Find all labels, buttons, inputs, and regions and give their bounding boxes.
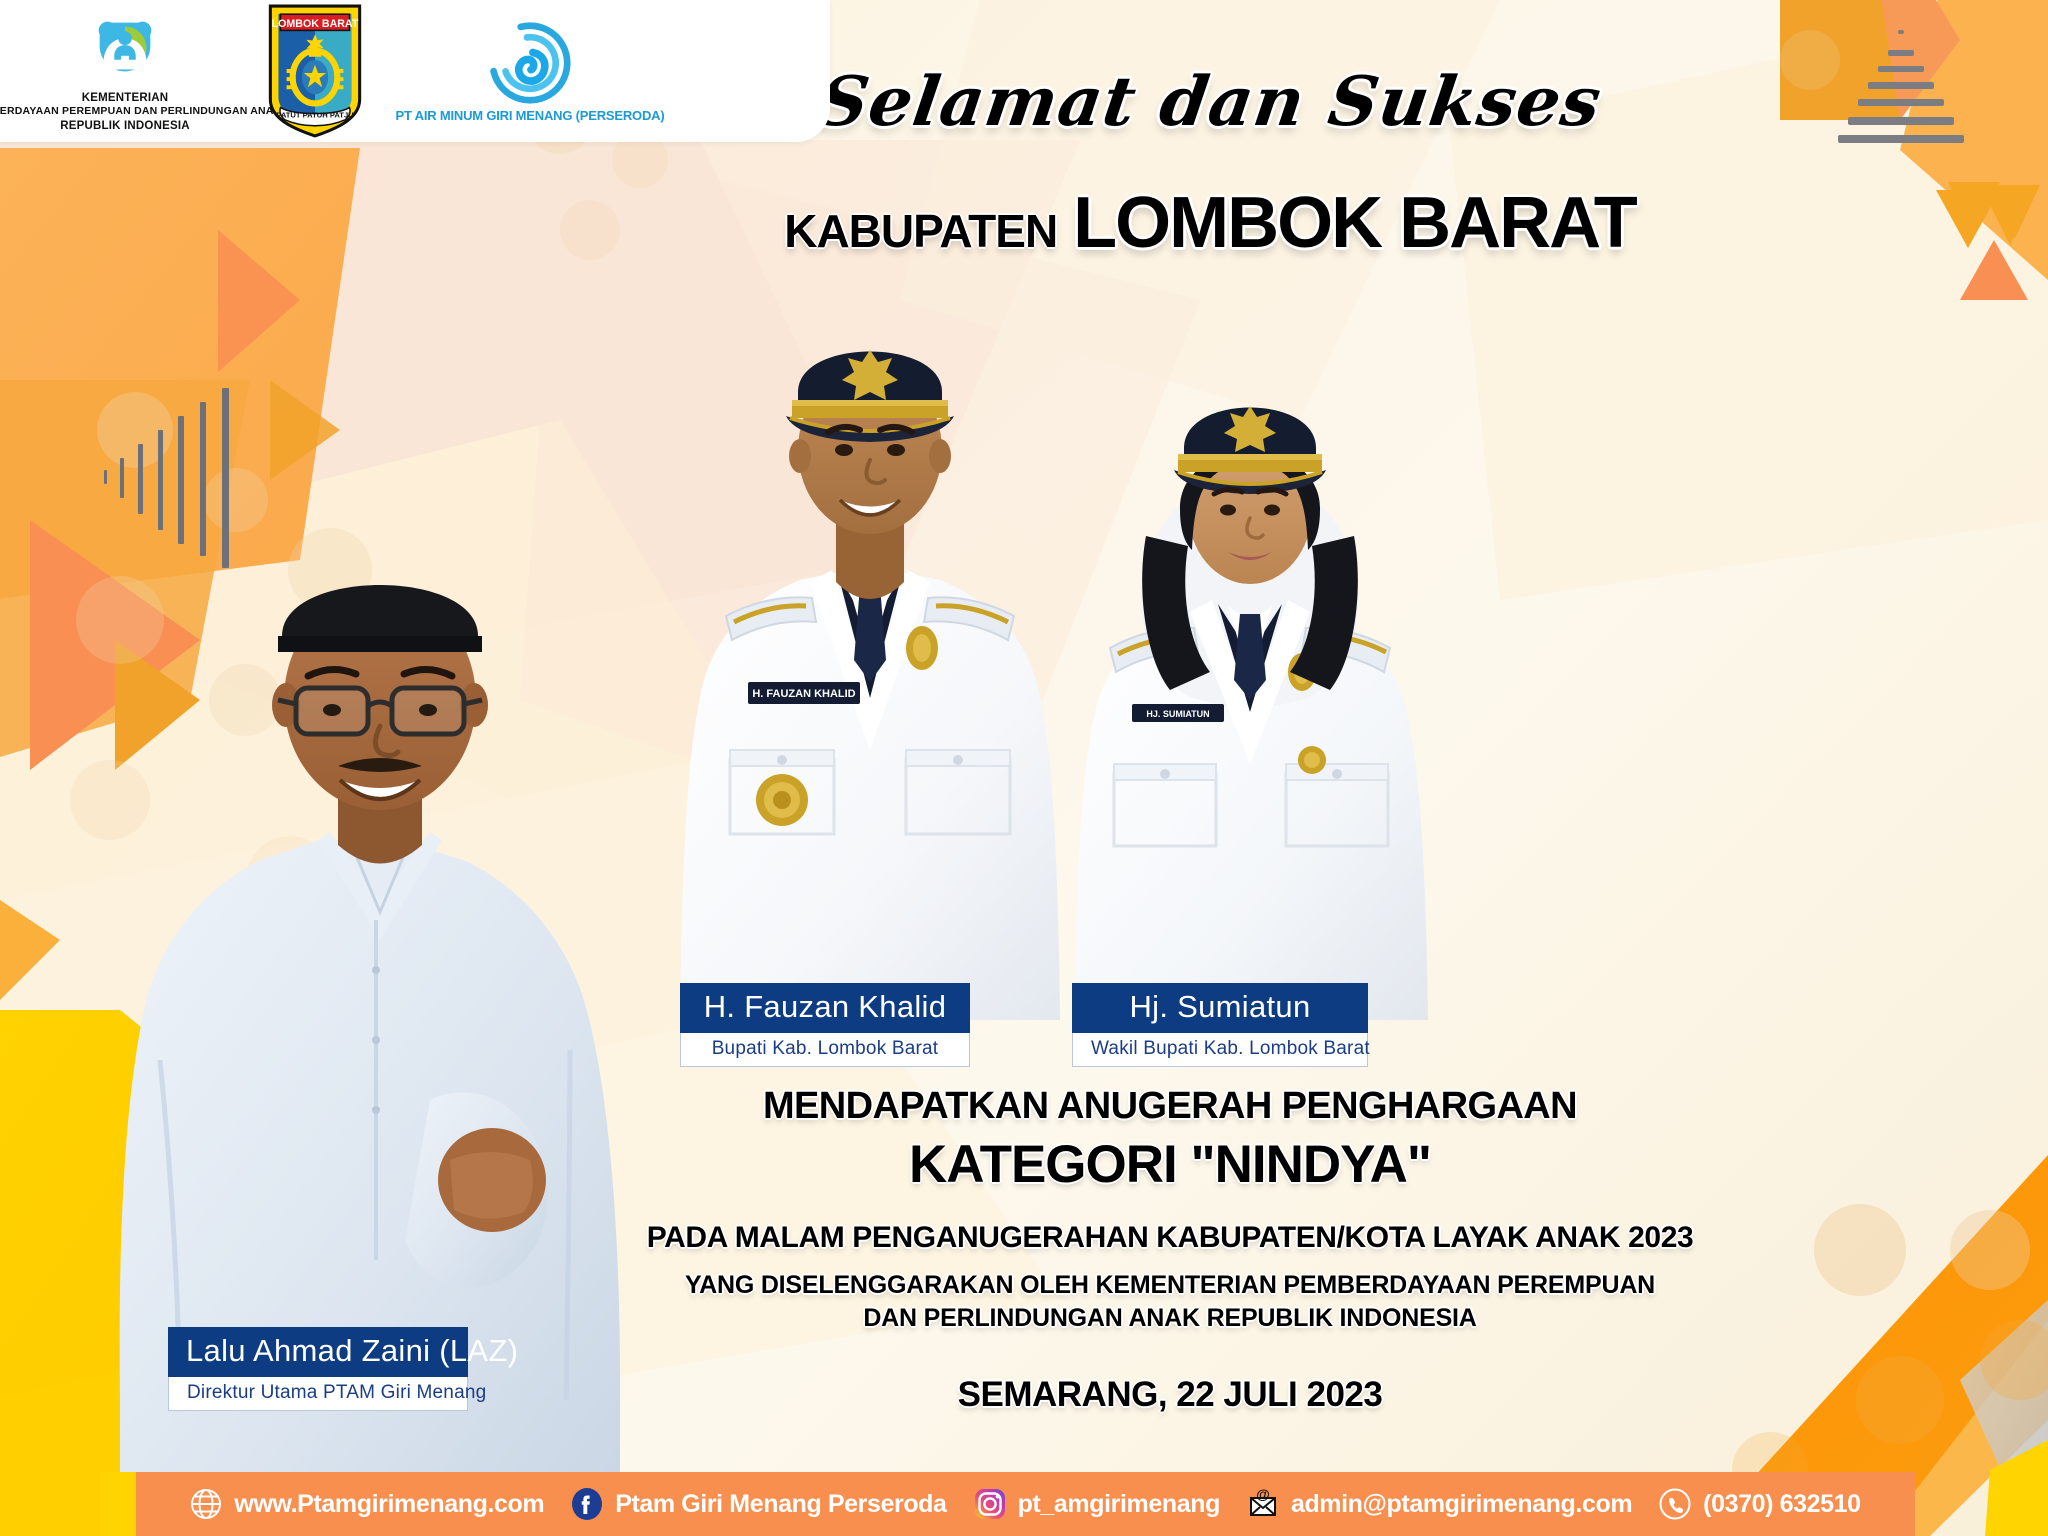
- lombok-barat-crest: LOMBOK BARAT PATUT PATUH PATJU: [250, 2, 380, 140]
- crest-banner-text: LOMBOK BARAT: [272, 18, 359, 30]
- footer-facebook-text: Ptam Giri Menang Perseroda: [615, 1490, 946, 1519]
- ptam-water-swirl-icon: [487, 20, 573, 106]
- nameplate-name: Hj. Sumiatun: [1072, 983, 1368, 1033]
- logo-header-card: KEMENTERIAN PEMBERDAYAAN PEREMPUAN DAN P…: [0, 0, 830, 142]
- instagram-icon: [973, 1487, 1007, 1521]
- pyramid-lines-motif: [1838, 28, 1968, 148]
- headline-script: Selamat dan Sukses: [794, 62, 1625, 142]
- footer-yellow-accent: [100, 1472, 136, 1536]
- award-line-3: PADA MALAM PENGANUGERAHAN KABUPATEN/KOTA…: [640, 1221, 1700, 1255]
- ptam-logo: PT AIR MINUM GIRI MENANG (PERSERODA): [380, 20, 680, 123]
- kpppa-emblem-icon: [86, 9, 164, 87]
- su-figure: HJ. SUMIATUN: [1050, 360, 1450, 1020]
- kpppa-caption-line1: KEMENTERIAN: [0, 91, 281, 106]
- nameplate-role: Direktur Utama PTAM Giri Menang: [168, 1377, 468, 1411]
- poster-canvas: KEMENTERIAN PEMBERDAYAAN PEREMPUAN DAN P…: [0, 0, 2048, 1536]
- headline-main: KABUPATENLOMBOK BARAT: [740, 182, 1680, 264]
- kpppa-caption-line3: REPUBLIK INDONESIA: [0, 119, 281, 134]
- footer-email-text: admin@ptamgirimenang.com: [1291, 1490, 1632, 1519]
- award-line-5: DAN PERLINDUNGAN ANAK REPUBLIK INDONESIA: [640, 1304, 1700, 1333]
- footer-facebook[interactable]: Ptam Giri Menang Perseroda: [570, 1487, 946, 1521]
- person-photo-fauzan-khalid: H. FAUZAN KHALID: [660, 330, 1080, 1020]
- footer-contact-bar: www.Ptamgirimenang.com Ptam Giri Menang …: [135, 1472, 1915, 1536]
- footer-website-text: www.Ptamgirimenang.com: [234, 1490, 544, 1519]
- fk-figure: H. FAUZAN KHALID: [660, 330, 1080, 1020]
- footer-instagram[interactable]: pt_amgirimenang: [973, 1487, 1220, 1521]
- award-date: SEMARANG, 22 JULI 2023: [640, 1375, 1700, 1415]
- facebook-icon: [570, 1487, 604, 1521]
- footer-website[interactable]: www.Ptamgirimenang.com: [189, 1487, 544, 1521]
- nameplate-fauzan-khalid: H. Fauzan Khalid Bupati Kab. Lombok Bara…: [680, 983, 970, 1067]
- footer-email[interactable]: @ admin@ptamgirimenang.com: [1246, 1487, 1632, 1521]
- globe-icon: [189, 1487, 223, 1521]
- lombok-barat-crest-icon: LOMBOK BARAT PATUT PATUH PATJU: [263, 2, 367, 140]
- award-line-1: MENDAPATKAN ANUGERAH PENGHARGAAN: [640, 1085, 1700, 1128]
- ptam-logo-caption: PT AIR MINUM GIRI MENANG (PERSERODA): [396, 108, 665, 123]
- kpppa-logo: KEMENTERIAN PEMBERDAYAAN PEREMPUAN DAN P…: [0, 9, 250, 134]
- nameplate-role: Wakil Bupati Kab. Lombok Barat: [1072, 1033, 1368, 1067]
- headline-emphasis: LOMBOK BARAT: [1073, 183, 1636, 263]
- fk-uniform-badge: H. FAUZAN KHALID: [752, 688, 855, 700]
- su-uniform-badge: HJ. SUMIATUN: [1146, 709, 1209, 719]
- crest-motto-text: PATUT PATUH PATJU: [276, 111, 354, 120]
- award-line-2: KATEGORI "NINDYA": [640, 1134, 1700, 1195]
- nameplate-sumiatun: Hj. Sumiatun Wakil Bupati Kab. Lombok Ba…: [1072, 983, 1368, 1067]
- nameplate-lalu-ahmad-zaini: Lalu Ahmad Zaini (LAZ) Direktur Utama PT…: [168, 1327, 468, 1411]
- person-photo-sumiatun: HJ. SUMIATUN: [1050, 360, 1450, 1020]
- svg-text:@: @: [1256, 1487, 1270, 1502]
- nameplate-name: H. Fauzan Khalid: [680, 983, 970, 1033]
- nameplate-role: Bupati Kab. Lombok Barat: [680, 1033, 970, 1067]
- email-envelope-icon: @: [1246, 1487, 1280, 1521]
- kpppa-logo-caption: KEMENTERIAN PEMBERDAYAAN PEREMPUAN DAN P…: [0, 91, 281, 134]
- award-line-4: YANG DISELENGGARAKAN OLEH KEMENTERIAN PE…: [640, 1271, 1700, 1300]
- footer-phone-text: (0370) 632510: [1703, 1490, 1860, 1519]
- footer-phone[interactable]: (0370) 632510: [1658, 1487, 1860, 1521]
- kpppa-caption-line2: PEMBERDAYAAN PEREMPUAN DAN PERLINDUNGAN …: [0, 105, 281, 118]
- phone-icon: [1658, 1487, 1692, 1521]
- award-text-block: MENDAPATKAN ANUGERAH PENGHARGAAN KATEGOR…: [640, 1085, 1700, 1415]
- headline-prefix: KABUPATEN: [784, 205, 1057, 257]
- nameplate-name: Lalu Ahmad Zaini (LAZ): [168, 1327, 468, 1377]
- footer-instagram-text: pt_amgirimenang: [1018, 1490, 1220, 1519]
